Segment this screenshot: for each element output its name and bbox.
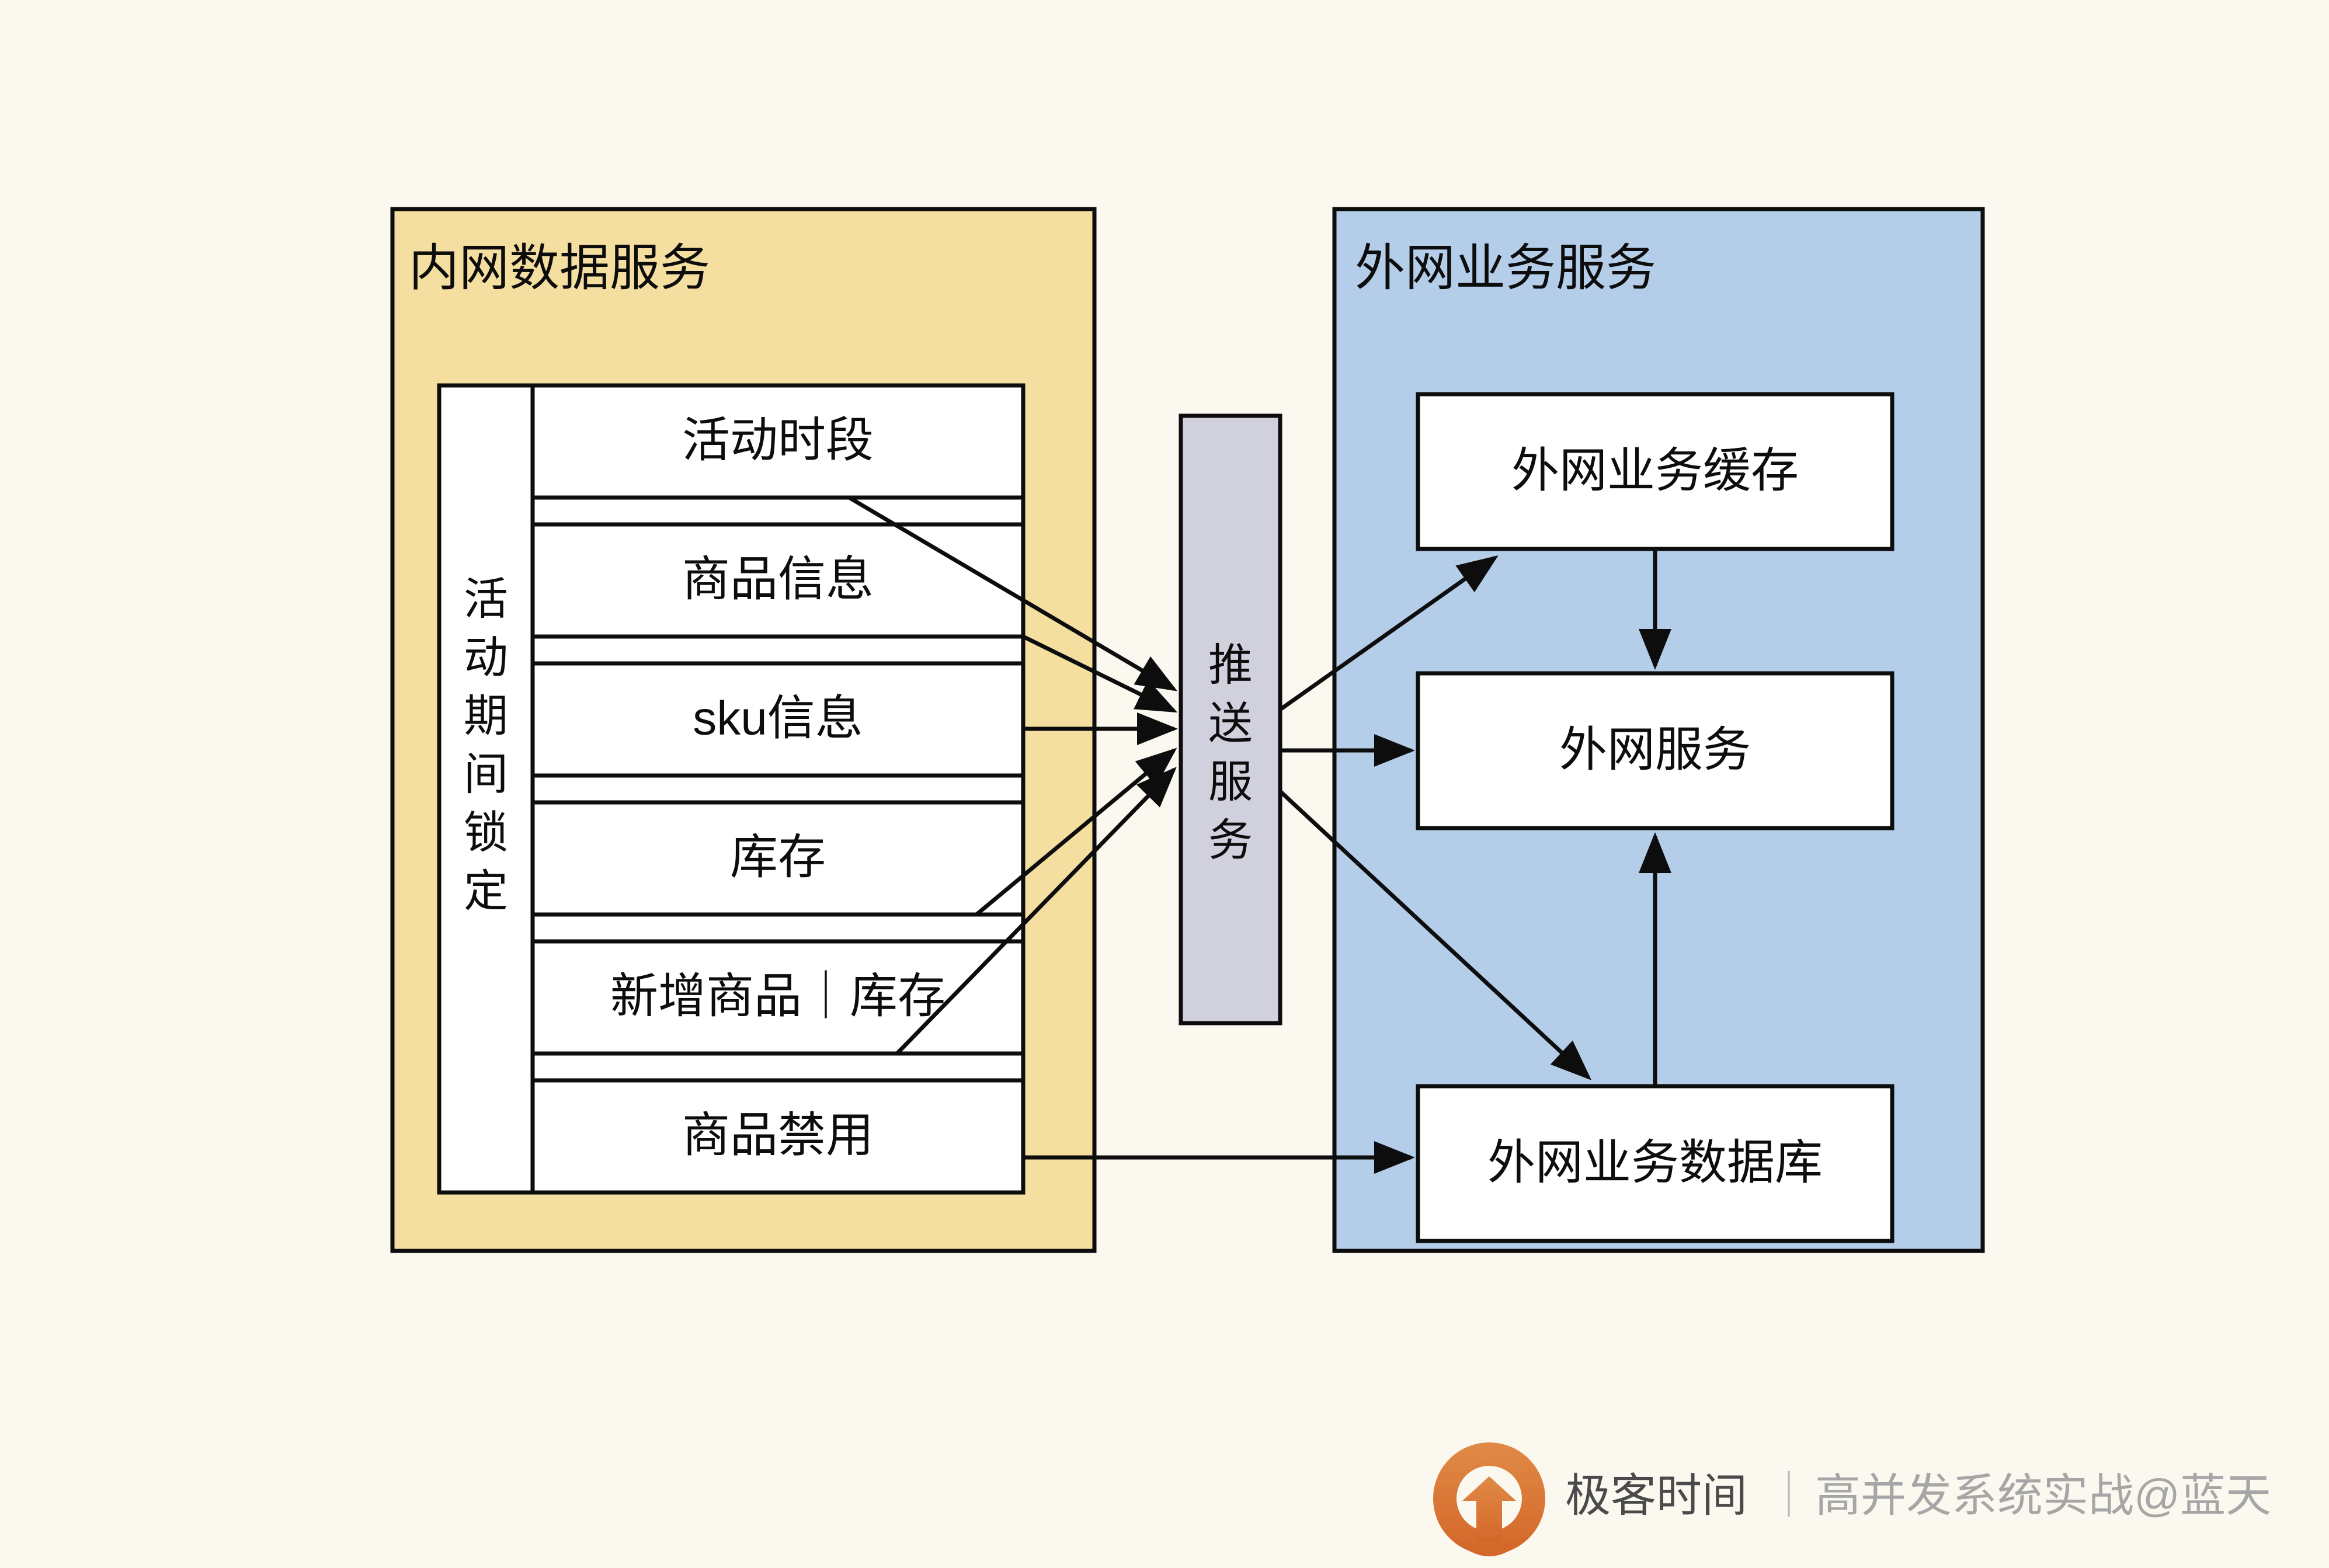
lock-label-char-4: 锁 (464, 808, 508, 858)
intranet-item-5-label: 商品禁用 (682, 1109, 874, 1162)
lock-label-char-0: 活 (464, 575, 508, 624)
push-label-char-0: 推 (1208, 641, 1253, 690)
intranet-panel: 内网数据服务 活 动 期 间 锁 定 活动时段 商品信息 (392, 209, 1094, 1251)
intranet-item-4-label: 新增商品｜库存 (610, 970, 945, 1023)
architecture-diagram: 内网数据服务 活 动 期 间 锁 定 活动时段 商品信息 (0, 0, 2329, 1568)
push-label-char-2: 服 (1208, 757, 1253, 807)
lock-label-char-2: 期 (464, 691, 508, 741)
extranet-node-0[interactable]: 外网业务缓存 (1418, 394, 1892, 549)
extranet-node-1[interactable]: 外网服务 (1418, 673, 1892, 828)
extranet-panel: 外网业务服务 外网业务缓存 外网服务 外网业务数据库 (1334, 209, 1983, 1251)
intranet-item-2[interactable]: sku信息 (533, 663, 1023, 776)
lock-label-char-5: 定 (464, 867, 508, 916)
watermark: 极客时间 ｜ 高并发系统实战@蓝天 (1433, 1442, 2271, 1556)
intranet-panel-title: 内网数据服务 (409, 240, 710, 296)
intranet-item-1[interactable]: 商品信息 (533, 524, 1023, 637)
diagram-canvas: 内网数据服务 活 动 期 间 锁 定 活动时段 商品信息 (0, 0, 2329, 1568)
intranet-item-5[interactable]: 商品禁用 (533, 1080, 1023, 1192)
intranet-item-3-label: 库存 (730, 831, 826, 884)
lock-label-char-1: 动 (464, 633, 508, 683)
watermark-separator: ｜ (1766, 1470, 1812, 1521)
push-service-node[interactable]: 推 送 服 务 (1181, 416, 1280, 1023)
geektime-logo-icon (1433, 1442, 1545, 1556)
extranet-panel-title: 外网业务服务 (1355, 240, 1656, 296)
lock-label-char-3: 间 (464, 750, 508, 799)
extranet-node-0-label: 外网业务缓存 (1511, 444, 1799, 498)
intranet-item-3[interactable]: 库存 (533, 802, 1023, 915)
push-label-char-3: 务 (1208, 816, 1253, 865)
push-label-char-1: 送 (1208, 699, 1253, 749)
intranet-item-0-label: 活动时段 (682, 414, 874, 467)
intranet-item-1-label: 商品信息 (682, 553, 874, 606)
watermark-course: 高并发系统实战@蓝天 (1815, 1470, 2271, 1521)
lock-group-container (439, 385, 1023, 1192)
extranet-node-1-label: 外网服务 (1559, 724, 1751, 777)
intranet-item-0[interactable]: 活动时段 (533, 385, 1023, 498)
watermark-brand: 极客时间 (1565, 1470, 1747, 1521)
intranet-item-2-label: sku信息 (693, 692, 863, 745)
extranet-node-2-label: 外网业务数据库 (1487, 1136, 1823, 1190)
extranet-node-2[interactable]: 外网业务数据库 (1418, 1086, 1892, 1241)
